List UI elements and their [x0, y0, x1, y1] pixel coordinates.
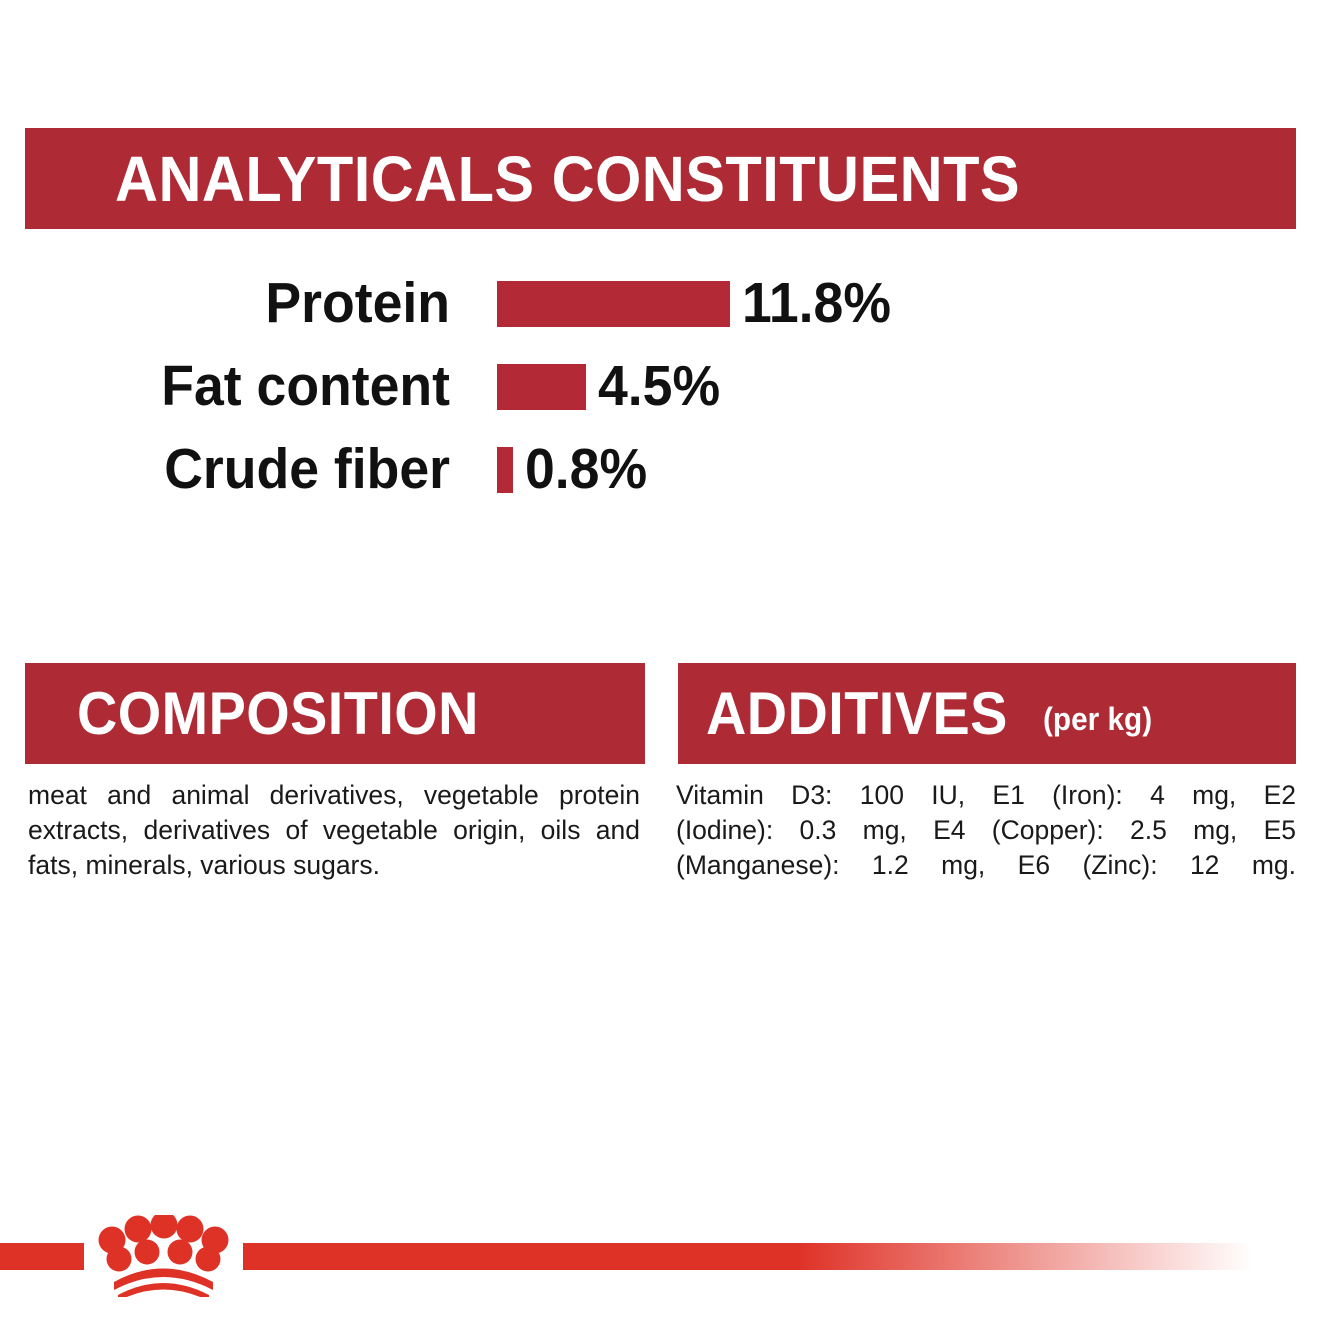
analyticals-constituents-chart: Protein 11.8% Fat content 4.5% Crude fib… [0, 262, 1320, 511]
additives-title: ADDITIVES [706, 684, 1008, 744]
constituent-value-crude-fiber: 0.8% [525, 441, 647, 498]
additives-line: (Iodine): 0.3 mg, E4 (Copper): 2.5 mg, E… [676, 813, 1296, 848]
constituent-label-crude-fiber: Crude fiber [27, 441, 450, 498]
composition-line: fats, minerals, various sugars. [28, 848, 640, 883]
constituent-bar-group-fat-content: 4.5% [497, 358, 728, 415]
footer [0, 1243, 1320, 1320]
table-row: Protein 11.8% [0, 262, 1320, 345]
table-row: Crude fiber 0.8% [0, 428, 1320, 511]
constituent-bar-group-protein: 11.8% [497, 275, 900, 332]
composition-title: COMPOSITION [77, 684, 479, 744]
composition-banner: COMPOSITION [25, 663, 645, 764]
constituent-bar-crude-fiber [497, 447, 513, 493]
analyticals-constituents-banner: ANALYTICALS CONSTITUENTS [25, 128, 1296, 229]
composition-body-text: meat and animal derivatives, vegetable p… [28, 778, 640, 883]
constituent-bar-protein [497, 281, 730, 327]
constituent-bar-fat-content [497, 364, 586, 410]
additives-line: (Manganese): 1.2 mg, E6 (Zinc): 12 mg. [676, 848, 1296, 883]
constituent-bar-group-crude-fiber: 0.8% [497, 441, 655, 498]
footer-rule-right [243, 1243, 1253, 1270]
footer-rule-left [0, 1243, 84, 1270]
additives-line: Vitamin D3: 100 IU, E1 (Iron): 4 mg, E2 [676, 778, 1296, 813]
additives-subtitle: (per kg) [1043, 701, 1152, 738]
composition-line: meat and animal derivatives, vegetable p… [28, 778, 640, 813]
constituent-value-fat-content: 4.5% [598, 358, 720, 415]
royal-canin-crown-icon [92, 1215, 232, 1297]
composition-line: extracts, derivatives of vegetable origi… [28, 813, 640, 848]
additives-banner: ADDITIVES (per kg) [678, 663, 1296, 764]
analyticals-constituents-title: ANALYTICALS CONSTITUENTS [115, 147, 1020, 211]
constituent-label-fat-content: Fat content [27, 358, 450, 415]
table-row: Fat content 4.5% [0, 345, 1320, 428]
constituent-value-protein: 11.8% [742, 275, 891, 332]
additives-body-text: Vitamin D3: 100 IU, E1 (Iron): 4 mg, E2 … [676, 778, 1296, 883]
constituent-label-protein: Protein [27, 275, 450, 332]
